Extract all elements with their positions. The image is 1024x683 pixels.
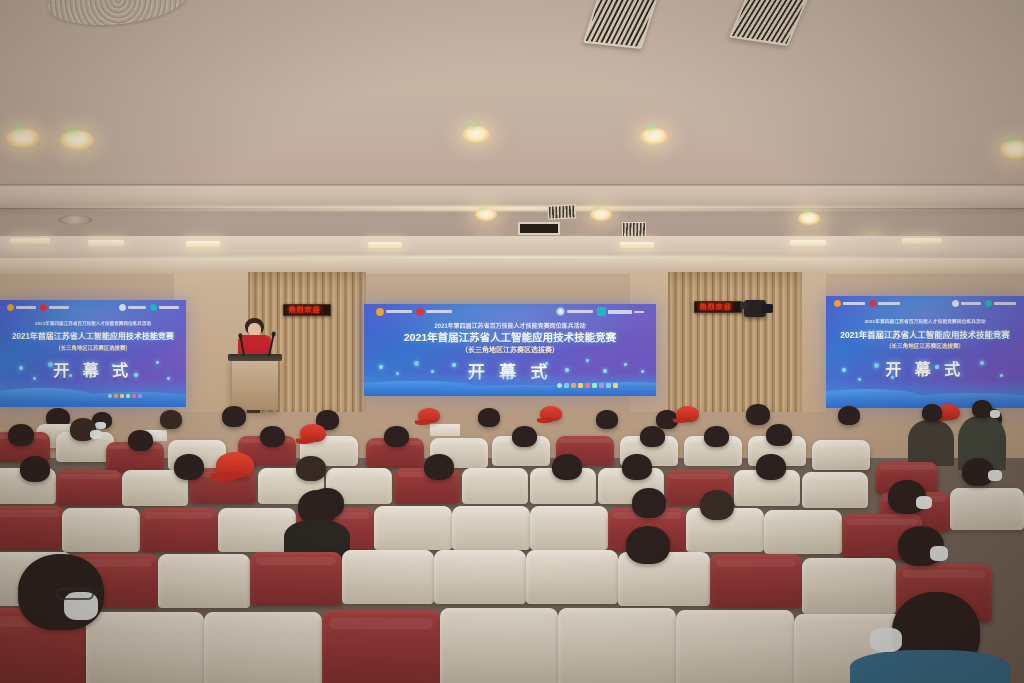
attendee-shoulders [850,650,1010,683]
red-cap-icon [676,406,699,422]
left-led-wall[interactable]: 2021年第四届江苏省百万技能人才技能竞赛岗位练兵活动 2021年首届江苏省人工… [0,300,186,407]
seat [204,612,322,683]
attendee-head [704,426,729,447]
sponsor-logo-icon [40,304,69,311]
standing-attendee [908,420,954,466]
center-screen-line-2: 2021年首届江苏省人工智能应用技术技能竞赛 [364,330,656,345]
right-led-wall[interactable]: 2021年第四届江苏省百万技能人才技能竞赛岗位练兵活动 2021年首届江苏省人工… [826,296,1024,408]
lectern-top [228,354,282,361]
red-cap-icon [216,452,254,478]
ceiling-downlight-icon [60,130,94,150]
left-screen-line-3: （长三角地区江苏赛区选拔赛） [0,344,186,352]
ceiling [0,0,1024,262]
attendee-head [174,454,204,480]
seat [530,506,608,550]
attendee-head [700,490,734,520]
standing-attendee-head [972,400,992,418]
face-mask-icon [930,546,948,561]
red-cap-icon [300,424,326,442]
right-screen-headline: 开 幕 式 [826,356,1024,380]
linear-light-icon [368,242,402,248]
ceiling-downlight-icon [1000,140,1024,159]
attendee-head [622,454,652,480]
linear-air-vent-icon [583,0,661,49]
attendee-head [296,456,326,481]
sponsor-logos-right [952,300,1016,307]
ceiling-soffit [0,186,1024,208]
sponsor-logos-left [834,300,900,307]
attendee-head [626,526,670,564]
audience-seating [0,396,1024,683]
attendee-head [160,410,182,429]
linear-light-icon [10,238,50,244]
left-screen-headline: 开 幕 式 [0,357,186,381]
left-screen-line-2: 2021年首届江苏省人工智能应用技术技能竞赛 [0,331,186,342]
seat [526,550,618,604]
attendee-head [384,426,409,447]
sponsor-logo-icon [985,300,1016,307]
eyeglasses-icon [56,588,94,600]
attendee-head [756,454,786,480]
seat [764,510,842,554]
ceiling-speaker-icon [58,215,92,225]
air-vent-icon [518,222,560,235]
auditorium-photo: 热烈欢迎 热烈欢迎 2021年第四届江苏省百万技 [0,0,1024,683]
attendee-head [746,404,770,425]
sponsor-logo-telecom-icon [597,307,644,316]
sponsor-logos-left [7,304,69,311]
sponsor-logo-icon [869,300,900,307]
sponsor-logo-red-icon [416,308,452,316]
attendee-head [838,406,860,425]
attendee-head [478,408,500,427]
seat [710,554,802,608]
seat [56,470,122,506]
led-sign-right-text: 热烈欢迎 [700,302,732,312]
attendee-head [552,454,582,480]
face-mask-icon [988,470,1002,481]
ceiling-downlight-icon [640,128,668,145]
linear-light-icon [88,240,124,246]
right-screen-line-1: 2021年第四届江苏省百万技能人才技能竞赛岗位练兵活动 [826,318,1024,325]
seat [440,608,558,683]
sponsor-logo-icon [952,300,981,307]
sponsor-logo-icon [150,304,179,311]
seat [62,508,140,552]
linear-light-icon [902,238,942,244]
face-mask-icon [916,496,932,509]
attendee-head [8,424,34,446]
wood-slat-wall-center [668,272,802,412]
face-mask-icon [870,628,902,652]
sponsor-logos-left [376,308,452,316]
led-sign-left-text: 热烈欢迎 [289,305,321,315]
seat [558,608,676,683]
round-air-diffuser-icon [46,0,190,31]
wall-cornice [0,258,1024,274]
seat [374,506,452,550]
seat [462,468,528,504]
wall-mounted-camera-icon [744,300,766,317]
left-screen-line-1: 2021年第四届江苏省百万技能人才技能竞赛岗位练兵活动 [0,321,186,327]
attendee-head [640,426,665,447]
seat [322,610,440,683]
right-screen-line-2: 2021年首届江苏省人工智能应用技术技能竞赛 [826,329,1024,341]
ceiling-downlight-icon [590,208,612,221]
seat [676,610,794,683]
attendee-head [424,454,454,480]
red-cap-icon [540,406,562,421]
linear-air-vent-icon [729,0,813,46]
standing-attendee-head [922,404,942,422]
ceiling-downlight-icon [462,126,490,143]
seat [950,488,1024,530]
ceiling-downlight-icon [6,128,40,148]
attendee-head [512,426,537,447]
seat [802,472,868,508]
face-mask-icon [90,430,102,439]
linear-light-icon [790,240,826,246]
sponsor-logo-icon [834,300,865,307]
led-scrolling-sign-right: 热烈欢迎 [694,301,742,313]
attendee-head [766,424,792,446]
sponsor-logos-right [119,304,179,311]
linear-light-icon [186,241,220,247]
air-vent-icon [548,204,577,219]
seat [140,508,218,552]
seat [250,552,342,606]
center-screen-line-3: （长三角地区江苏赛区选拔赛） [364,345,656,355]
seat [434,550,526,604]
attendee-head [632,488,666,518]
attendee-head [128,430,153,451]
attendee-head [298,490,338,524]
seat [452,506,530,550]
attendee-head [260,426,285,447]
center-screen-icon-row [557,383,618,388]
attendee-head [20,456,50,482]
right-screen-line-3: （长三角地区江苏赛区选拔赛） [826,342,1024,350]
red-cap-icon [418,408,440,423]
seat [0,506,64,550]
sponsor-logos-right [556,307,644,316]
center-screen-line-1: 2021年第四届江苏省百万技能人才技能竞赛岗位练兵活动 [364,321,656,330]
face-mask-icon [95,422,106,429]
center-led-wall[interactable]: 2021年第四届江苏省百万技能人才技能竞赛岗位练兵活动 2021年首届江苏省人工… [364,304,656,396]
face-mask-icon [990,410,1000,418]
seat [86,612,204,683]
seat [802,558,896,614]
sponsor-logo-icon [7,304,36,311]
sponsor-logo-orange-icon [376,308,412,316]
sponsor-logo-icon [119,304,146,311]
sponsor-logo-blue-icon [556,307,593,316]
ceiling-downlight-icon [798,212,820,225]
seat [812,440,870,470]
seat [158,554,250,608]
seat [342,550,434,604]
attendee-head [596,410,618,429]
ceiling-downlight-icon [475,208,497,221]
linear-light-icon [620,242,654,248]
led-scrolling-sign-left: 热烈欢迎 [283,304,331,316]
attendee-head [222,406,246,427]
